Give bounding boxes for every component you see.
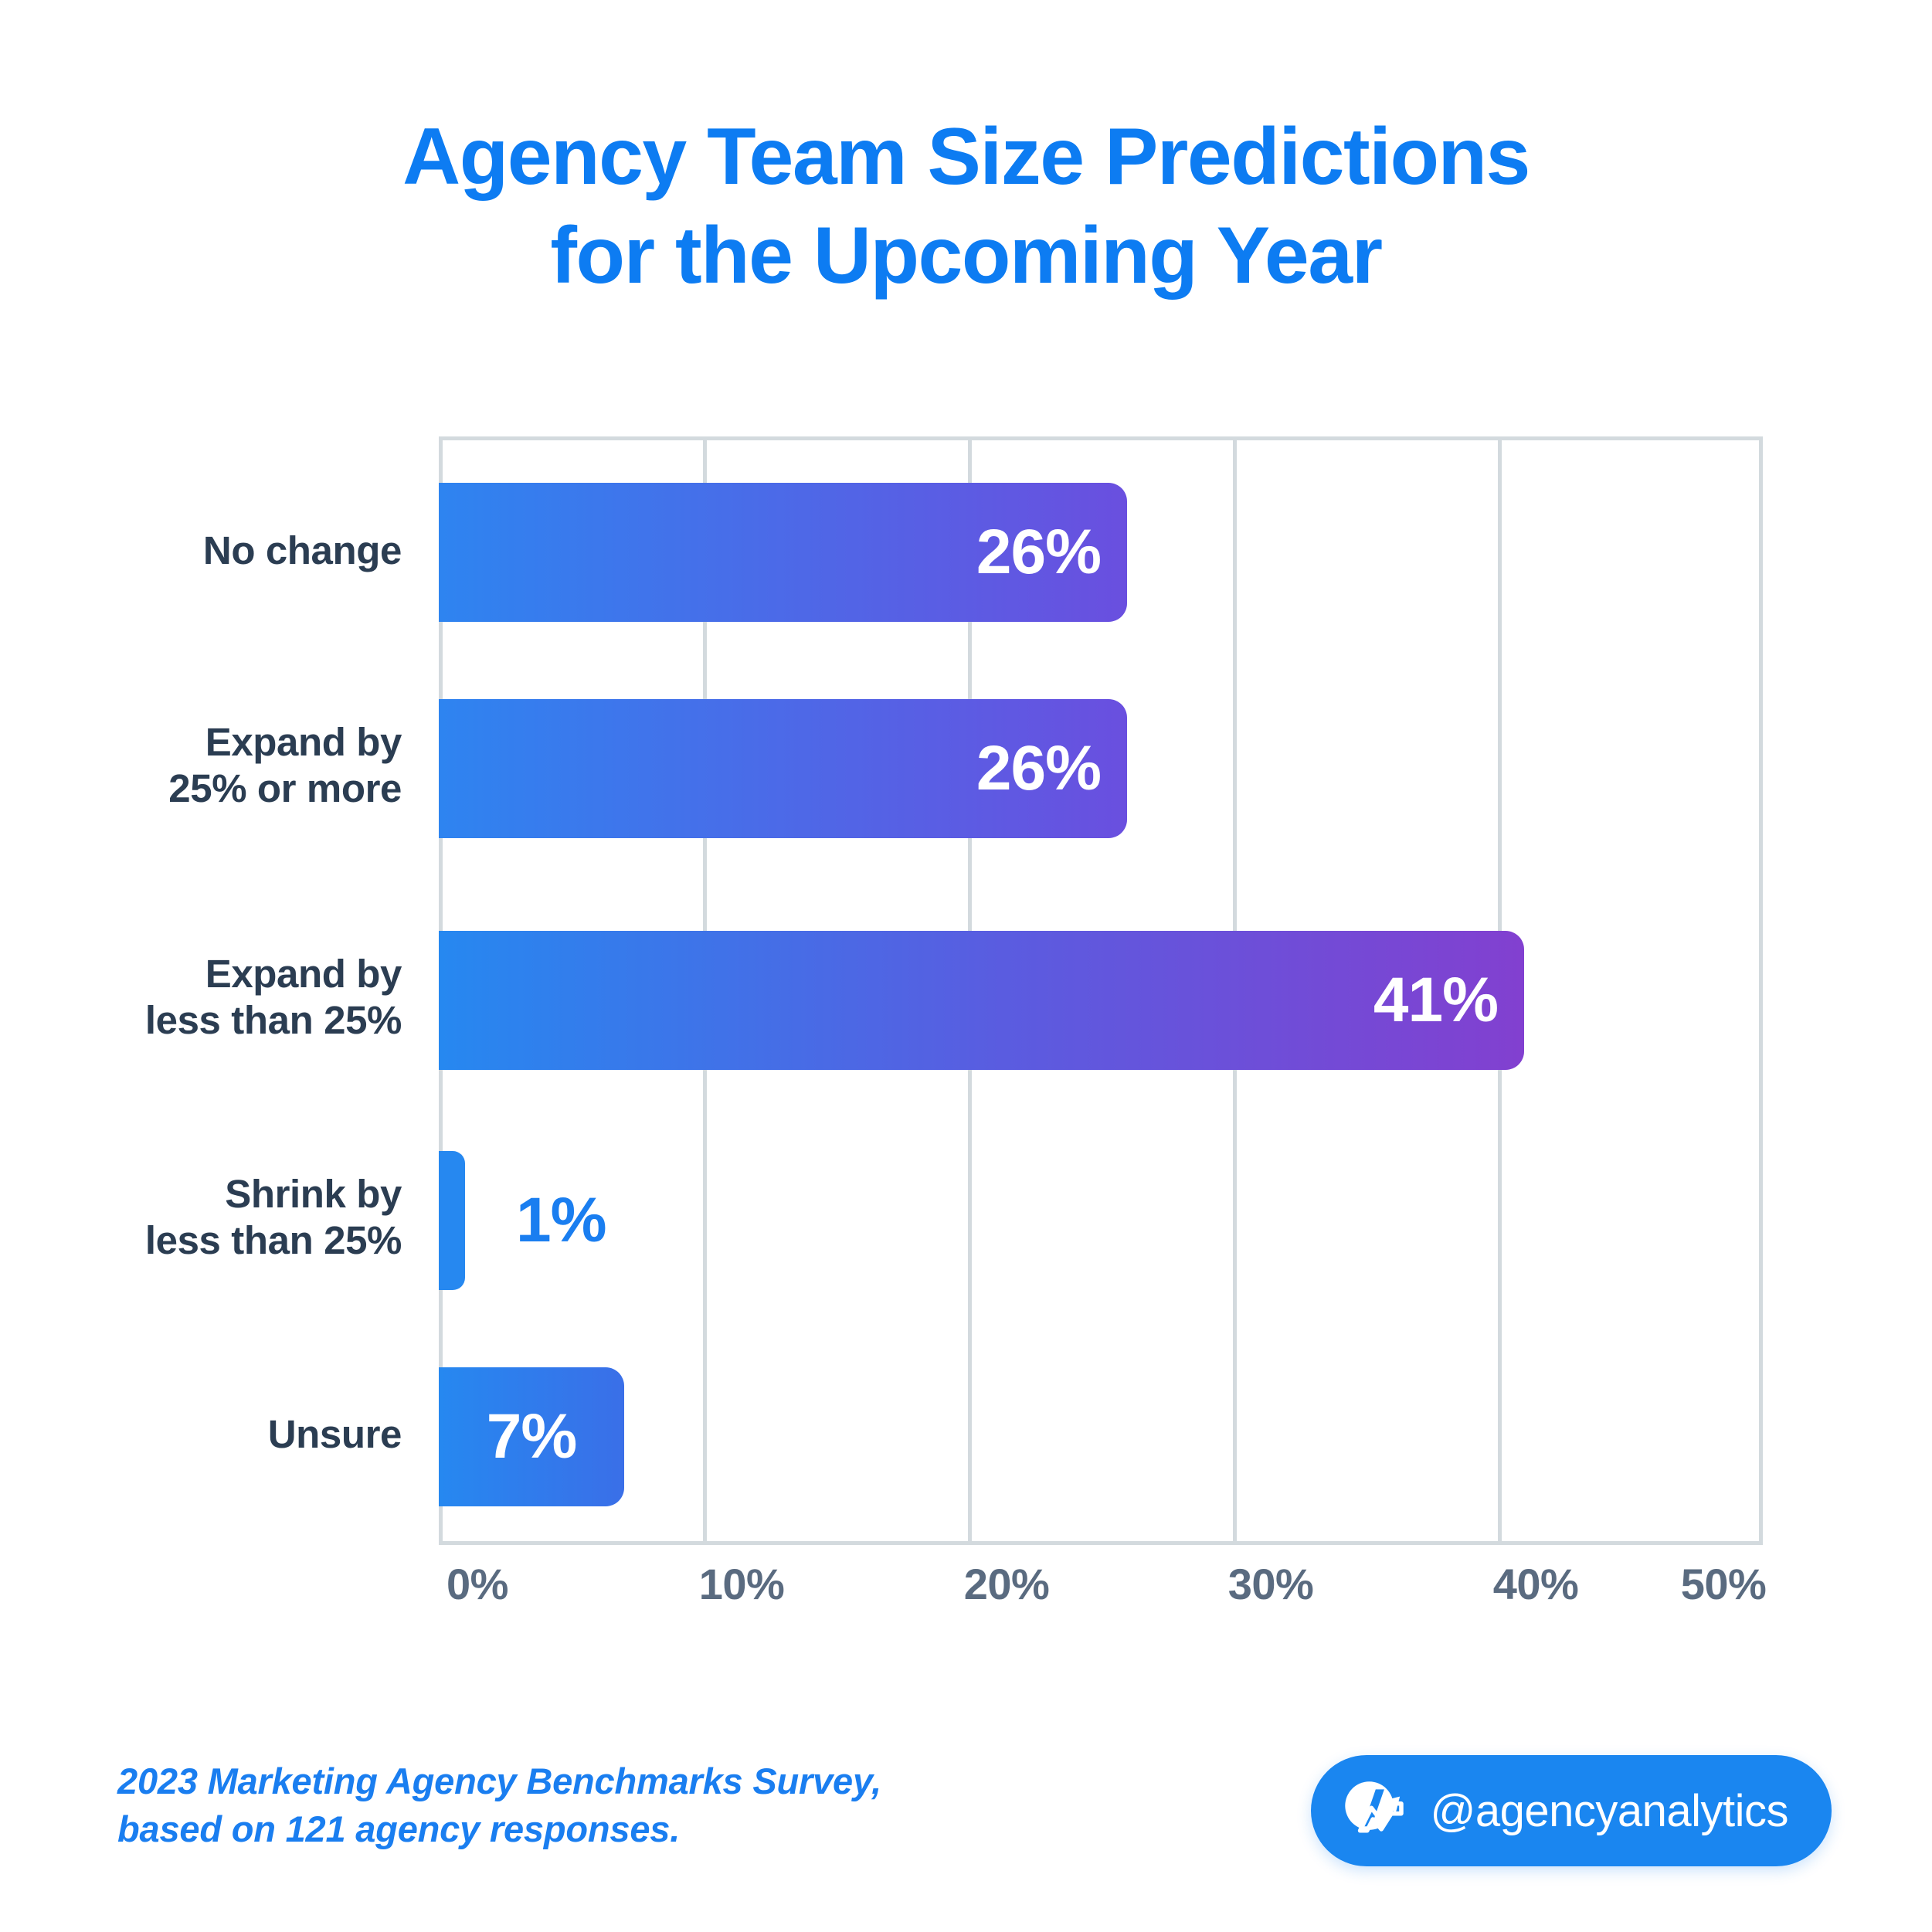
cat-label-no-change: No change [0,528,402,574]
footnote-line-1: 2023 Marketing Agency Benchmarks Survey, [117,1757,881,1805]
bar-value-label: 7% [439,1367,624,1506]
xtick-30: 30% [1170,1559,1371,1609]
xtick-50: 50% [1623,1559,1824,1609]
title-line-2: for the Upcoming Year [0,207,1932,306]
cat-label-expand-25-or-more: Expand by 25% or more [0,719,402,812]
page-title: Agency Team Size Predictions for the Upc… [0,108,1932,306]
xtick-0: 0% [377,1559,578,1609]
footnote-line-2: based on 121 agency responses. [117,1805,881,1853]
brand-badge[interactable]: @agencyanalytics [1311,1755,1832,1866]
cat-label-expand-less-than-25: Expand by less than 25% [0,951,402,1044]
bar-value-label: 1% [516,1151,606,1290]
bar-shrink-less-than-25[interactable] [439,1151,465,1290]
bar-row: 26% [439,483,1763,622]
title-line-1: Agency Team Size Predictions [0,108,1932,207]
bar-row: 26% [439,699,1763,838]
bar-row: 1% [439,1151,1763,1290]
category-axis-labels: No change Expand by 25% or more Expand b… [0,436,402,1545]
bars-layer: 26% 26% 41% 1% 7% [439,436,1763,1545]
bar-expand-25-or-more[interactable]: 26% [439,699,1127,838]
bar-value-label: 26% [976,483,1101,622]
cat-label-shrink-less-than-25: Shrink by less than 25% [0,1171,402,1264]
source-footnote: 2023 Marketing Agency Benchmarks Survey,… [117,1757,881,1853]
xtick-20: 20% [906,1559,1107,1609]
bar-no-change[interactable]: 26% [439,483,1127,622]
bar-row: 41% [439,931,1763,1070]
bar-value-label: 26% [976,699,1101,838]
bar-unsure[interactable]: 7% [439,1367,624,1506]
bar-expand-less-than-25[interactable]: 41% [439,931,1524,1070]
xtick-40: 40% [1435,1559,1636,1609]
cat-label-unsure: Unsure [0,1411,402,1458]
x-axis-tick-labels: 0% 10% 20% 30% 40% 50% [439,1559,1763,1628]
bar-row: 7% [439,1367,1763,1506]
bar-value-label: 41% [1373,931,1498,1070]
agencyanalytics-logo-icon [1339,1775,1410,1846]
xtick-10: 10% [641,1559,842,1609]
brand-handle: @agencyanalytics [1430,1785,1788,1837]
